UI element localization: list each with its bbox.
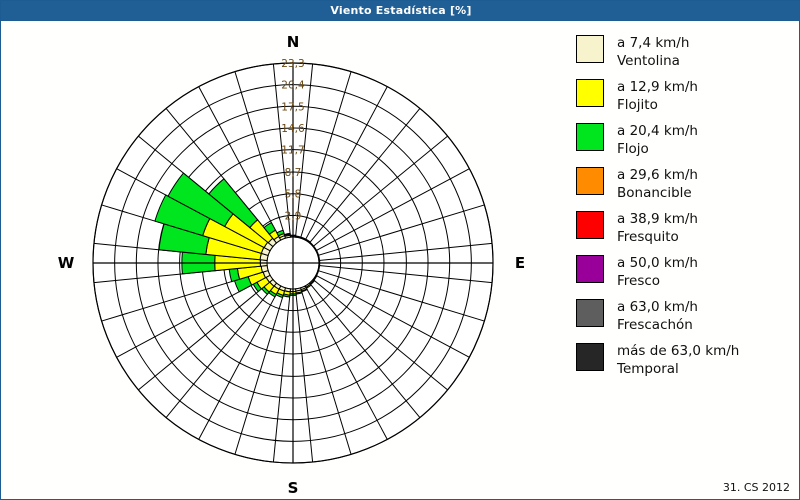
legend-item[interactable]: a 29,6 km/h Bonancible xyxy=(576,167,798,202)
legend-range: a 29,6 km/h xyxy=(617,167,698,185)
legend-label: Temporal xyxy=(617,361,739,379)
legend-label: Bonancible xyxy=(617,185,698,203)
legend-label: Flojo xyxy=(617,141,698,159)
legend-label: Flojito xyxy=(617,97,698,115)
window-title: Viento Estadística [%] xyxy=(330,4,471,17)
legend: a 7,4 km/h Ventolina a 12,9 km/h Flojito… xyxy=(576,35,798,387)
wind-rose-window: Viento Estadística [%] 2,95,88,711,714,6… xyxy=(0,0,800,500)
legend-range: a 38,9 km/h xyxy=(617,211,698,229)
legend-label: Fresco xyxy=(617,273,698,291)
legend-range: más de 63,0 km/h xyxy=(617,343,739,361)
legend-item[interactable]: a 7,4 km/h Ventolina xyxy=(576,35,798,70)
legend-range: a 63,0 km/h xyxy=(617,299,698,317)
legend-item[interactable]: a 20,4 km/h Flojo xyxy=(576,123,798,158)
legend-swatch-bonancible xyxy=(576,167,604,195)
legend-swatch-ventolina xyxy=(576,35,604,63)
radial-tick-label: 2,9 xyxy=(285,210,302,222)
legend-item[interactable]: a 63,0 km/h Frescachón xyxy=(576,299,798,334)
cardinal-label-n: N xyxy=(287,33,300,51)
legend-swatch-fresco xyxy=(576,255,604,283)
legend-swatch-fresquito xyxy=(576,211,604,239)
legend-item[interactable]: a 38,9 km/h Fresquito xyxy=(576,211,798,246)
legend-label: Frescachón xyxy=(617,317,698,335)
wind-rose-svg: 2,95,88,711,714,617,520,423,3 NESW xyxy=(1,21,569,499)
radial-tick-label: 23,3 xyxy=(281,58,304,70)
radial-tick-label: 14,6 xyxy=(281,123,305,135)
legend-label: Ventolina xyxy=(617,53,689,71)
radial-tick-label: 8,7 xyxy=(285,167,302,179)
footer-credit: 31. CS 2012 xyxy=(723,481,790,494)
wind-rose-chart: 2,95,88,711,714,617,520,423,3 NESW xyxy=(1,21,569,499)
legend-range: a 20,4 km/h xyxy=(617,123,698,141)
radial-tick-label: 5,8 xyxy=(285,189,302,201)
cardinal-label-s: S xyxy=(288,479,299,497)
cardinal-label-w: W xyxy=(58,254,75,272)
legend-item[interactable]: a 12,9 km/h Flojito xyxy=(576,79,798,114)
radial-tick-label: 17,5 xyxy=(281,101,304,113)
legend-range: a 50,0 km/h xyxy=(617,255,698,273)
cardinal-label-e: E xyxy=(515,254,525,272)
legend-range: a 12,9 km/h xyxy=(617,79,698,97)
legend-swatch-frescachon xyxy=(576,299,604,327)
legend-item[interactable]: más de 63,0 km/h Temporal xyxy=(576,343,798,378)
legend-swatch-flojito xyxy=(576,79,604,107)
window-title-bar: Viento Estadística [%] xyxy=(1,1,800,21)
legend-range: a 7,4 km/h xyxy=(617,35,689,53)
legend-label: Fresquito xyxy=(617,229,698,247)
legend-item[interactable]: a 50,0 km/h Fresco xyxy=(576,255,798,290)
radial-tick-label: 20,4 xyxy=(281,80,305,92)
legend-swatch-flojo xyxy=(576,123,604,151)
radial-tick-label: 11,7 xyxy=(281,145,304,157)
legend-swatch-temporal xyxy=(576,343,604,371)
